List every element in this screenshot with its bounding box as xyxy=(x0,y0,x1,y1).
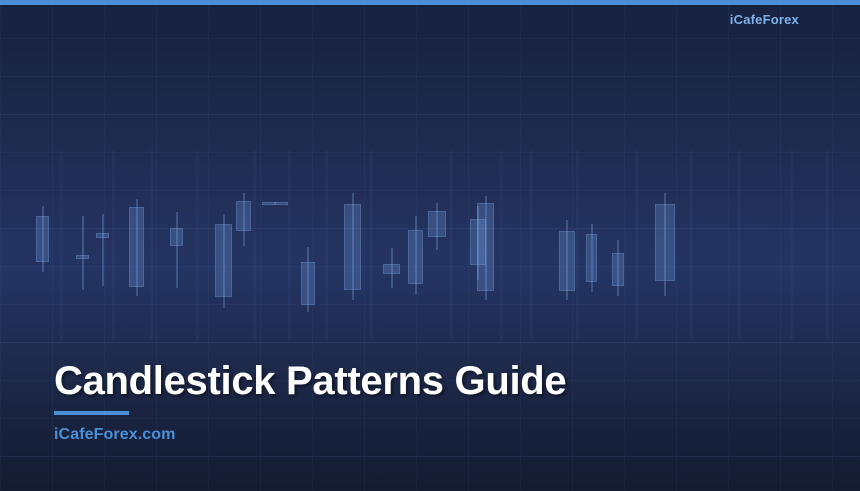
chart-haze-column xyxy=(60,150,63,340)
candle-body xyxy=(470,219,486,265)
chart-haze-column xyxy=(253,150,256,340)
chart-haze-column xyxy=(288,150,291,340)
candle-body xyxy=(76,255,89,259)
candle-body xyxy=(262,202,288,205)
candle-body xyxy=(559,231,575,291)
chart-haze-column xyxy=(325,150,328,340)
chart-haze-column xyxy=(690,150,693,340)
chart-haze-column xyxy=(450,150,453,340)
forex-banner: iCafeForex Candlestick Patterns Guide iC… xyxy=(0,0,860,491)
candle-wick xyxy=(136,199,138,296)
candle-wick xyxy=(591,224,593,292)
candle-wick xyxy=(243,193,245,246)
site-url-text: iCafeForex.com xyxy=(54,426,566,444)
chart-haze-column xyxy=(500,150,503,340)
candle-wick xyxy=(307,247,309,312)
chart-haze-column xyxy=(826,150,829,340)
candle-body xyxy=(129,207,144,287)
title-underline-bar xyxy=(54,411,129,415)
candle-body xyxy=(586,234,597,282)
top-accent-strip xyxy=(0,0,860,5)
candle-wick xyxy=(664,193,666,296)
chart-haze-column xyxy=(150,150,153,340)
page-title: Candlestick Patterns Guide xyxy=(54,358,566,404)
candle-wick xyxy=(102,214,104,286)
candle-body xyxy=(344,204,361,290)
candle-wick xyxy=(176,212,178,288)
candle-wick xyxy=(477,206,479,280)
chart-haze-column xyxy=(530,150,533,340)
chart-haze-column xyxy=(790,150,793,340)
chart-haze-column xyxy=(738,150,741,340)
candle-wick xyxy=(391,248,393,288)
chart-haze-column xyxy=(112,150,115,340)
candle-body xyxy=(96,233,109,238)
candle-wick xyxy=(223,214,225,308)
candle-wick xyxy=(436,203,438,250)
candle-body xyxy=(612,253,624,286)
chart-haze-column xyxy=(576,150,579,340)
candle-body xyxy=(36,216,49,262)
candle-body xyxy=(236,201,251,231)
candle-wick xyxy=(566,220,568,300)
brand-logo-text: iCafeForex xyxy=(730,12,799,27)
chart-haze-column xyxy=(635,150,638,340)
candle-wick xyxy=(274,202,276,205)
hero-title-block: Candlestick Patterns Guide iCafeForex.co… xyxy=(54,358,566,444)
candle-wick xyxy=(485,196,487,300)
chart-haze-column xyxy=(370,150,373,340)
candle-wick xyxy=(82,216,84,290)
chart-haze-column xyxy=(196,150,199,340)
candle-wick xyxy=(42,206,44,272)
candle-body xyxy=(383,264,400,274)
candle-body xyxy=(655,204,675,281)
candle-body xyxy=(170,228,183,246)
candle-body xyxy=(428,211,446,237)
candle-wick xyxy=(415,216,417,294)
candle-body xyxy=(408,230,423,284)
candle-wick xyxy=(352,193,354,300)
candle-body xyxy=(477,203,494,291)
candle-body xyxy=(215,224,232,297)
candle-body xyxy=(301,262,315,305)
candle-wick xyxy=(617,240,619,296)
